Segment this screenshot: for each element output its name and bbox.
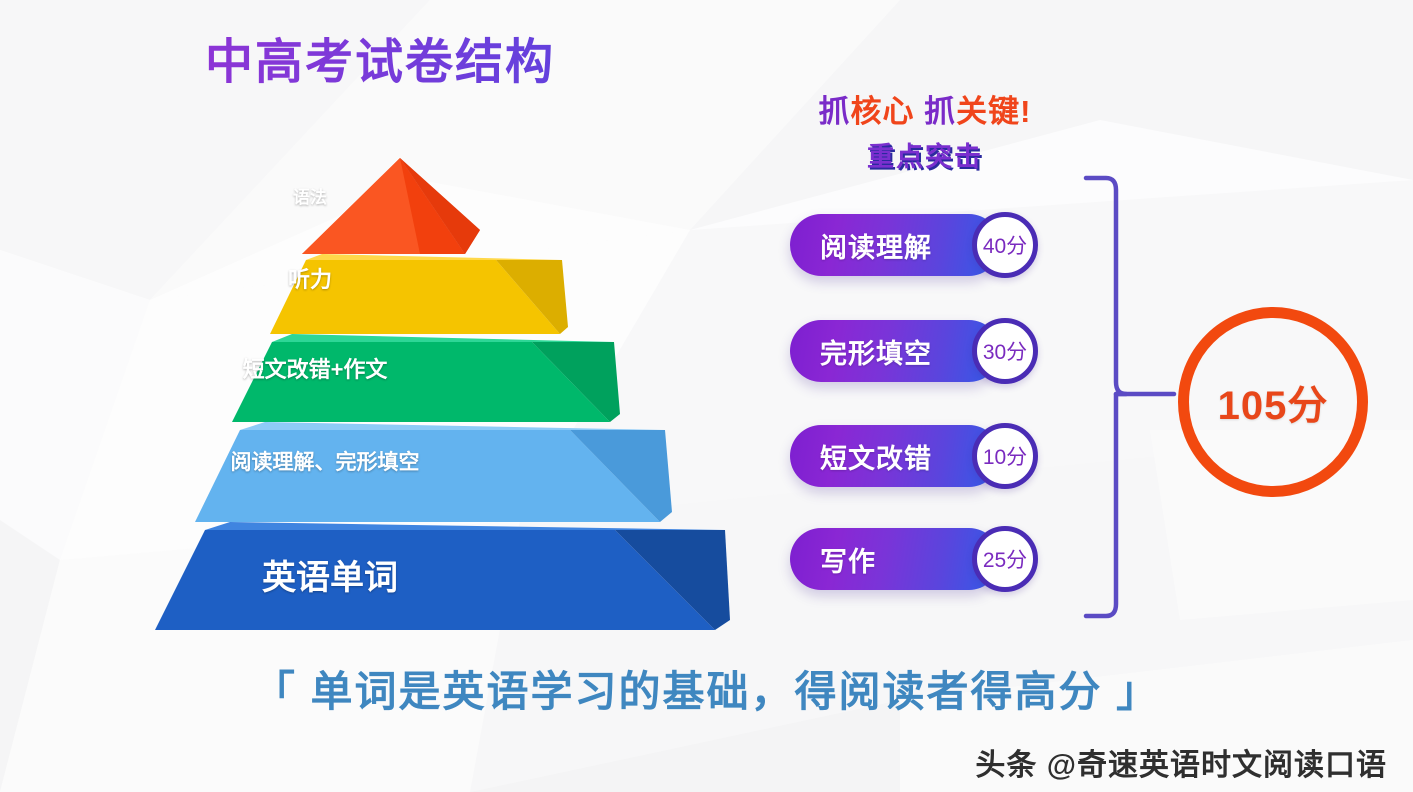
pyramid-chart [120, 130, 780, 650]
total-score-value: 105分 [1218, 373, 1329, 431]
bottom-quote: 「 单词是英语学习的基础，得阅读者得高分 」 [0, 658, 1413, 719]
pyramid-tier-2 [270, 254, 568, 334]
section-row-2[interactable]: 短文改错 10分 [790, 425, 1070, 487]
section-pill-1[interactable]: 完形填空 [790, 320, 1000, 382]
page-title: 中高考试卷结构 [0, 22, 760, 92]
pyramid-tier-5 [155, 522, 730, 630]
section-score-badge-2: 10分 [972, 423, 1038, 489]
total-score-circle: 105分 [1178, 307, 1368, 497]
heading-grab-1: 抓 [819, 94, 851, 129]
section-row-1[interactable]: 完形填空 30分 [790, 320, 1070, 382]
section-label-2: 短文改错 [820, 437, 932, 476]
section-score-badge-3: 25分 [972, 526, 1038, 592]
section-pill-3[interactable]: 写作 [790, 528, 1000, 590]
heading-key: 关键! [956, 94, 1031, 129]
section-label-1: 完形填空 [820, 332, 932, 371]
heading-grab-2: 抓 [924, 94, 956, 129]
heading-line-1: 抓核心 抓关键! [760, 96, 1090, 129]
watermark: 头条 @奇速英语时文阅读口语 [975, 740, 1387, 784]
pyramid-tier-1 [302, 158, 480, 254]
section-label-3: 写作 [820, 540, 876, 579]
section-pill-2[interactable]: 短文改错 [790, 425, 1000, 487]
heading-core: 核心 [851, 94, 915, 129]
right-heading: 抓核心 抓关键! 重点突击 [760, 96, 1090, 174]
section-label-0: 阅读理解 [820, 226, 932, 265]
pyramid-tier-3 [232, 334, 620, 422]
pyramid-tier-4 [195, 422, 672, 522]
section-score-badge-0: 40分 [972, 212, 1038, 278]
curly-brace-icon [1078, 172, 1188, 622]
section-row-0[interactable]: 阅读理解 40分 [790, 214, 1070, 276]
section-pill-0[interactable]: 阅读理解 [790, 214, 1000, 276]
infographic-canvas: 中高考试卷结构 [0, 0, 1413, 792]
section-score-badge-1: 30分 [972, 318, 1038, 384]
section-row-3[interactable]: 写作 25分 [790, 528, 1070, 590]
heading-line-2: 重点突击 [760, 135, 1090, 174]
